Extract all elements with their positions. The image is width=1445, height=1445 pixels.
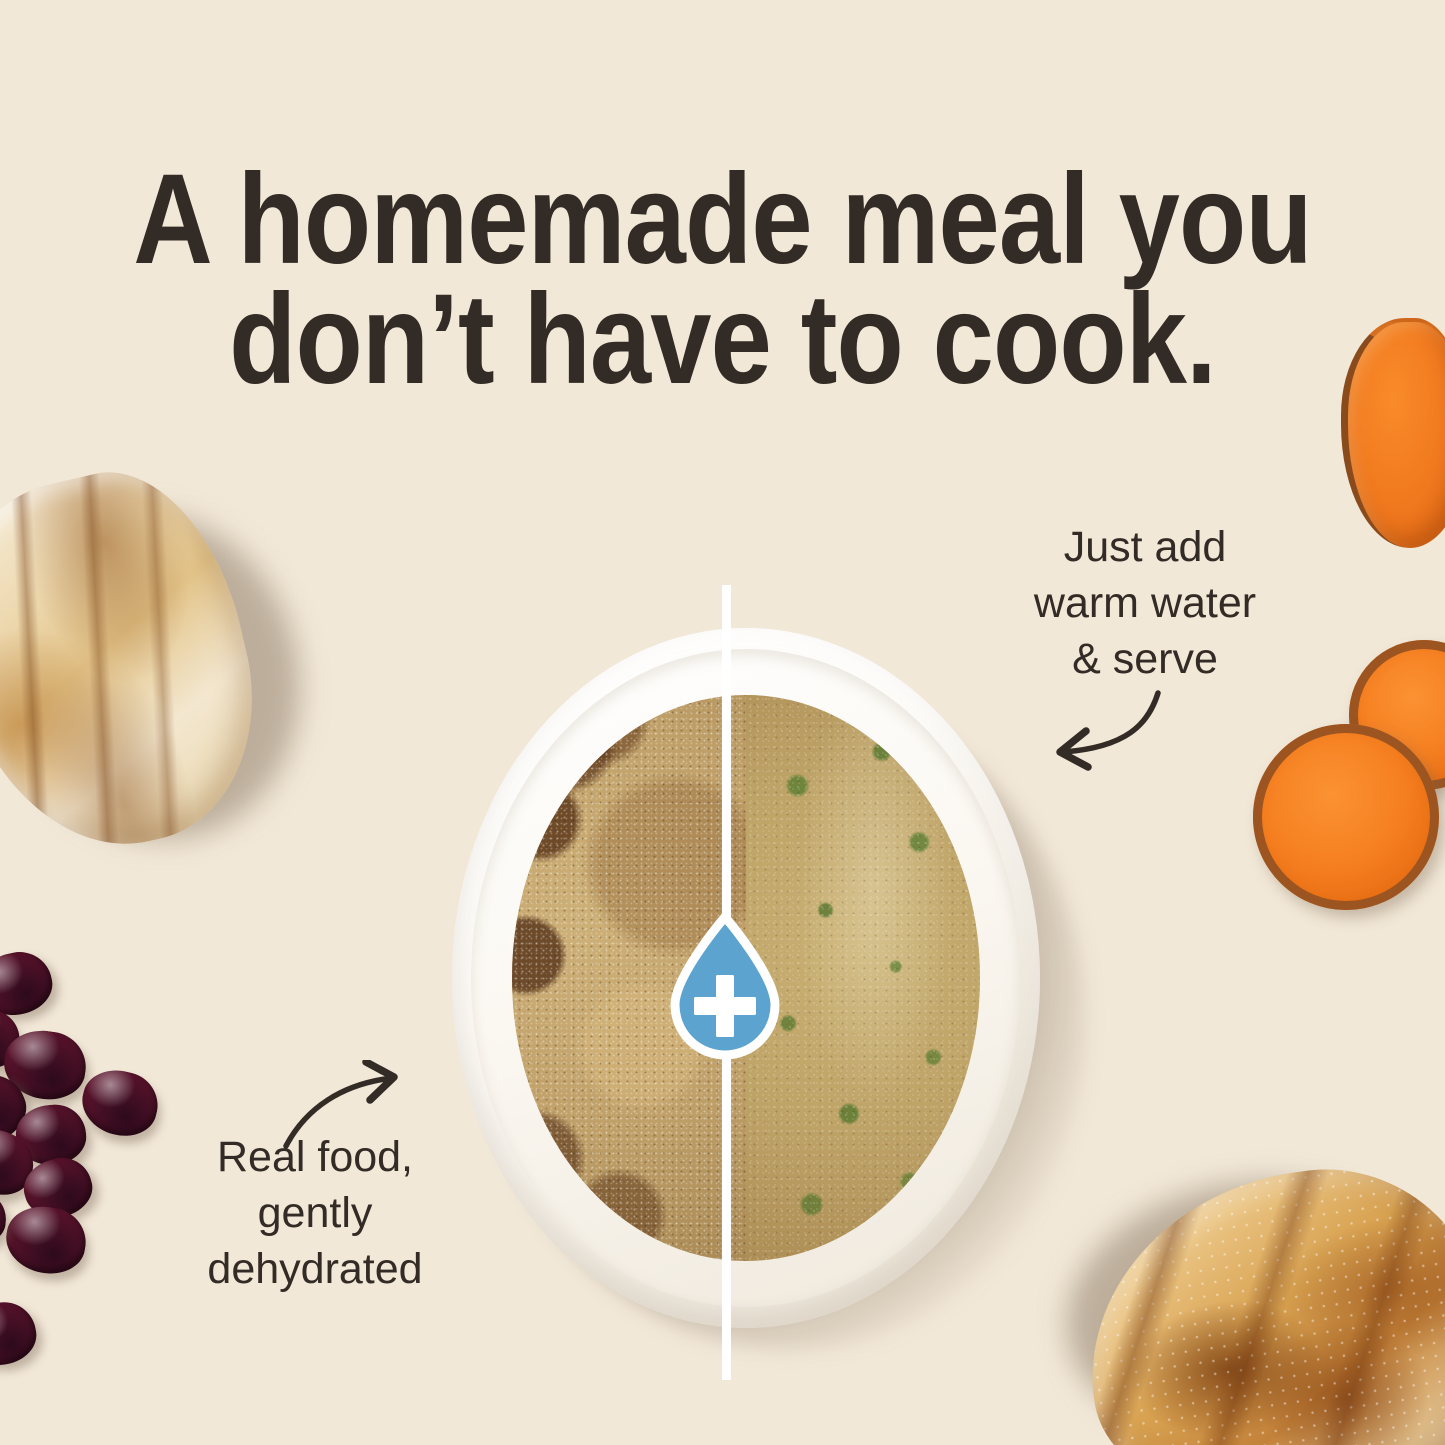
dried-cranberry	[0, 946, 58, 1022]
dried-cranberry	[0, 1297, 41, 1371]
ingredient-sweet-potato-wedge	[1341, 318, 1445, 548]
ingredient-cod-fillet	[0, 455, 290, 875]
advertisement-creative: A homemade meal you don’t have to cook.	[0, 0, 1445, 1445]
dried-cranberry	[1, 1201, 91, 1280]
annotation-just-add-warm-water: Just add warm water & serve	[985, 520, 1305, 688]
sweet-potato-slice	[1253, 724, 1439, 910]
ingredient-roast-chicken	[1075, 1157, 1445, 1445]
water-drop-plus-icon	[663, 913, 787, 1061]
chicken-body	[1067, 1149, 1445, 1445]
page-title: A homemade meal you don’t have to cook.	[101, 160, 1344, 401]
curved-arrow-down-left-icon	[1030, 685, 1170, 780]
sweet-potato-wedge-body	[1341, 318, 1445, 548]
annotation-real-food-gently-dehydrated: Real food, gently dehydrated	[150, 1130, 480, 1298]
